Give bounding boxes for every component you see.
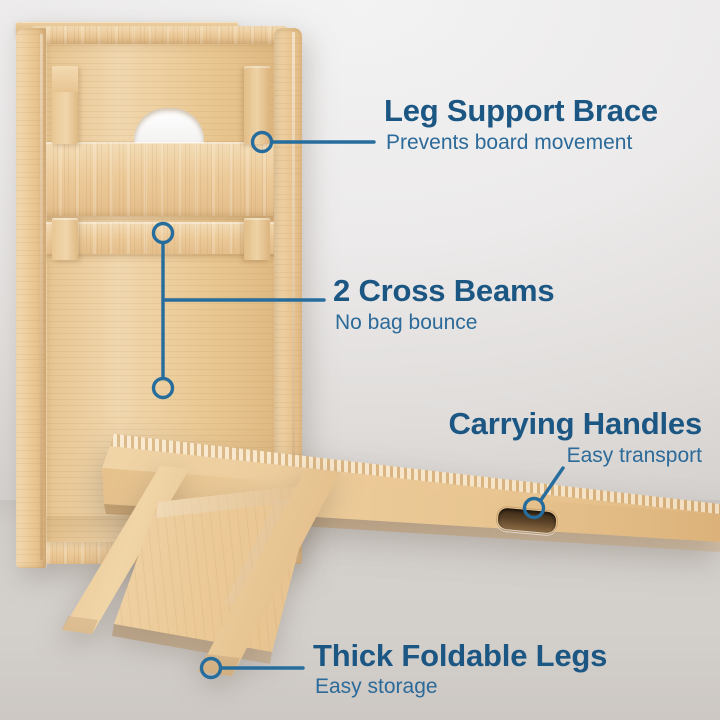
leg-support-brace-bottom-left xyxy=(52,218,78,260)
leg-support-brace-top-left-cap xyxy=(52,66,78,92)
leg-support-brace-bottom-right xyxy=(244,218,270,260)
callout-title-thick-foldable-legs: Thick Foldable Legs xyxy=(313,640,607,672)
cross-beam-upper xyxy=(42,142,282,216)
callout-subtitle-leg-support-brace: Prevents board movement xyxy=(386,131,658,155)
callout-title-cross-beams: 2 Cross Beams xyxy=(333,275,554,307)
callout-leg-support-brace: Leg Support Brace Prevents board movemen… xyxy=(384,95,658,155)
callout-thick-foldable-legs: Thick Foldable Legs Easy storage xyxy=(313,640,607,699)
callout-subtitle-thick-foldable-legs: Easy storage xyxy=(315,675,607,699)
callout-cross-beams: 2 Cross Beams No bag bounce xyxy=(333,275,554,335)
callout-carrying-handles: Carrying Handles Easy transport xyxy=(449,408,703,468)
leg-support-brace-top-right xyxy=(244,66,270,144)
callout-subtitle-carrying-handles: Easy transport xyxy=(449,444,703,468)
callout-title-leg-support-brace: Leg Support Brace xyxy=(384,95,658,127)
infographic-canvas: Leg Support Brace Prevents board movemen… xyxy=(0,0,720,720)
frame-rail-top xyxy=(30,26,290,44)
callout-subtitle-cross-beams: No bag bounce xyxy=(335,311,554,335)
callout-title-carrying-handles: Carrying Handles xyxy=(449,408,703,440)
